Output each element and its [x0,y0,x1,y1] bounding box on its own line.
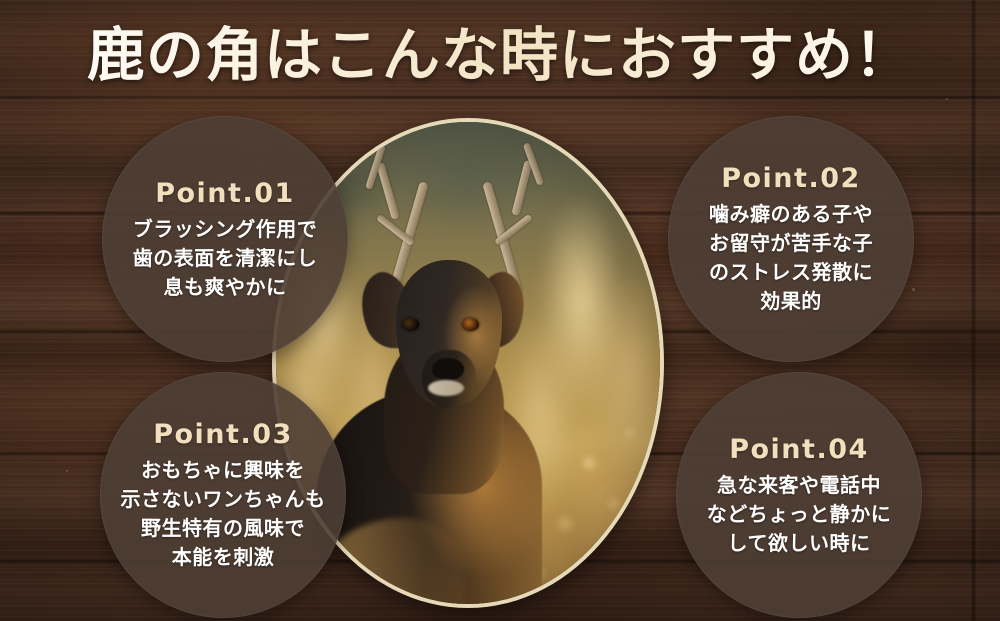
promo-banner: 鹿の角はこんな時におすすめ！ [0,0,1000,621]
point-text-line: 息も爽やかに [133,273,318,302]
point-text-line: 歯の表面を清潔にし [133,244,318,273]
page-title: 鹿の角はこんな時におすすめ！ [0,16,1000,94]
point-text-02: 噛み癖のある子や お留守が苦手な子 のストレス発散に 効果的 [709,200,873,316]
point-text-line: のストレス発散に [709,258,873,287]
point-text-line: して欲しい時に [707,529,892,558]
point-label-03: Point.03 [153,418,293,452]
wood-speck [946,98,948,100]
point-bubble-01: Point.01 ブラッシング作用で 歯の表面を清潔にし 息も爽やかに [102,116,348,362]
point-text-line: などちょっと静かに [707,500,892,529]
point-bubble-04: Point.04 急な来客や電話中 などちょっと静かに して欲しい時に [676,372,922,618]
point-text-line: おもちゃに興味を [121,456,326,485]
point-text-line: 示さないワンちゃんも [121,485,326,514]
point-text-01: ブラッシング作用で 歯の表面を清潔にし 息も爽やかに [133,215,318,302]
point-text-line: お留守が苦手な子 [709,229,873,258]
wood-speck [912,288,915,291]
point-text-line: 本能を刺激 [121,543,326,572]
point-text-line: 効果的 [709,287,873,316]
point-label-04: Point.04 [729,433,869,467]
point-label-01: Point.01 [155,177,295,211]
point-text-04: 急な来客や電話中 などちょっと静かに して欲しい時に [707,471,892,558]
point-bubble-03: Point.03 おもちゃに興味を 示さないワンちゃんも 野生特有の風味で 本能… [100,372,346,618]
point-text-line: ブラッシング作用で [133,215,318,244]
point-bubble-02: Point.02 噛み癖のある子や お留守が苦手な子 のストレス発散に 効果的 [668,116,914,362]
point-text-03: おもちゃに興味を 示さないワンちゃんも 野生特有の風味で 本能を刺激 [121,456,326,572]
point-text-line: 急な来客や電話中 [707,471,892,500]
point-label-02: Point.02 [721,162,861,196]
point-text-line: 野生特有の風味で [121,514,326,543]
point-text-line: 噛み癖のある子や [709,200,873,229]
wood-speck [66,470,68,472]
